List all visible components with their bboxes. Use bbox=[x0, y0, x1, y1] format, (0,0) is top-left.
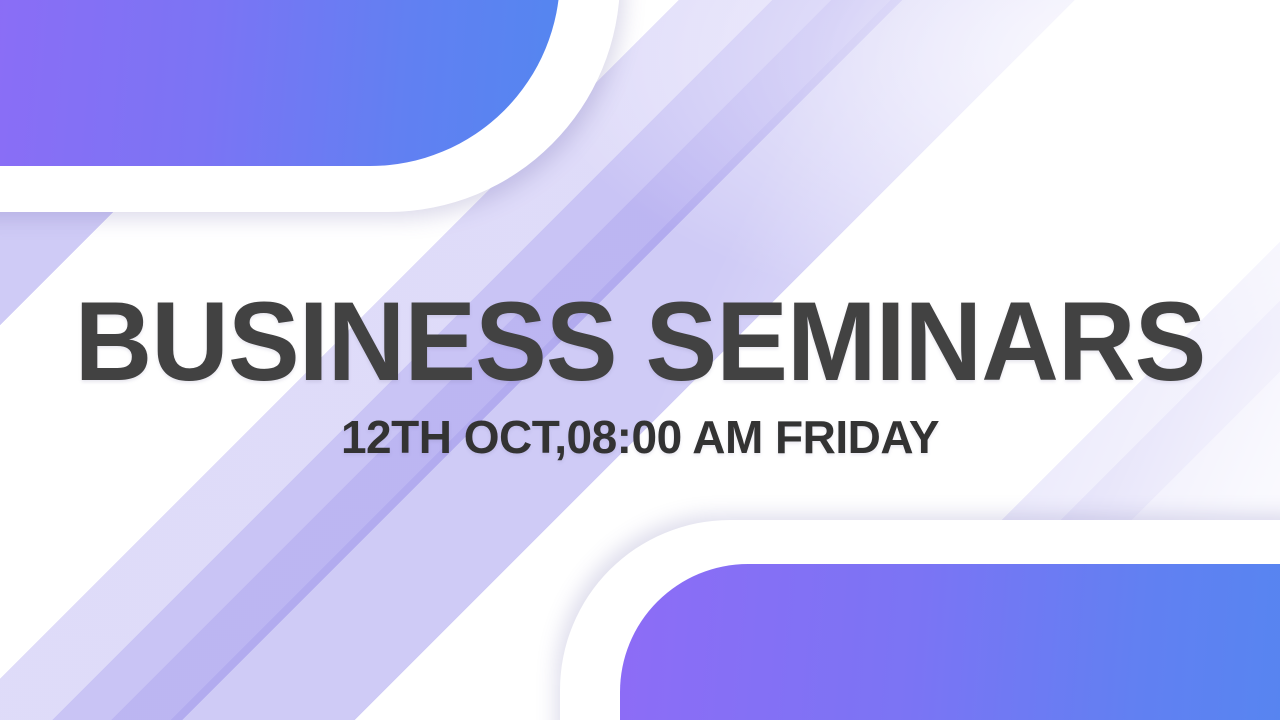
seminar-poster: BUSINESS SEMINARS 12TH OCT,08:00 AM FRID… bbox=[0, 0, 1280, 720]
top-left-gradient-card bbox=[0, 0, 620, 212]
bottom-right-gradient-card bbox=[560, 520, 1280, 720]
poster-text-block: BUSINESS SEMINARS 12TH OCT,08:00 AM FRID… bbox=[0, 286, 1280, 460]
poster-title: BUSINESS SEMINARS bbox=[26, 286, 1255, 398]
bottom-right-card-fill bbox=[620, 564, 1280, 720]
poster-subtitle: 12TH OCT,08:00 AM FRIDAY bbox=[0, 414, 1280, 460]
